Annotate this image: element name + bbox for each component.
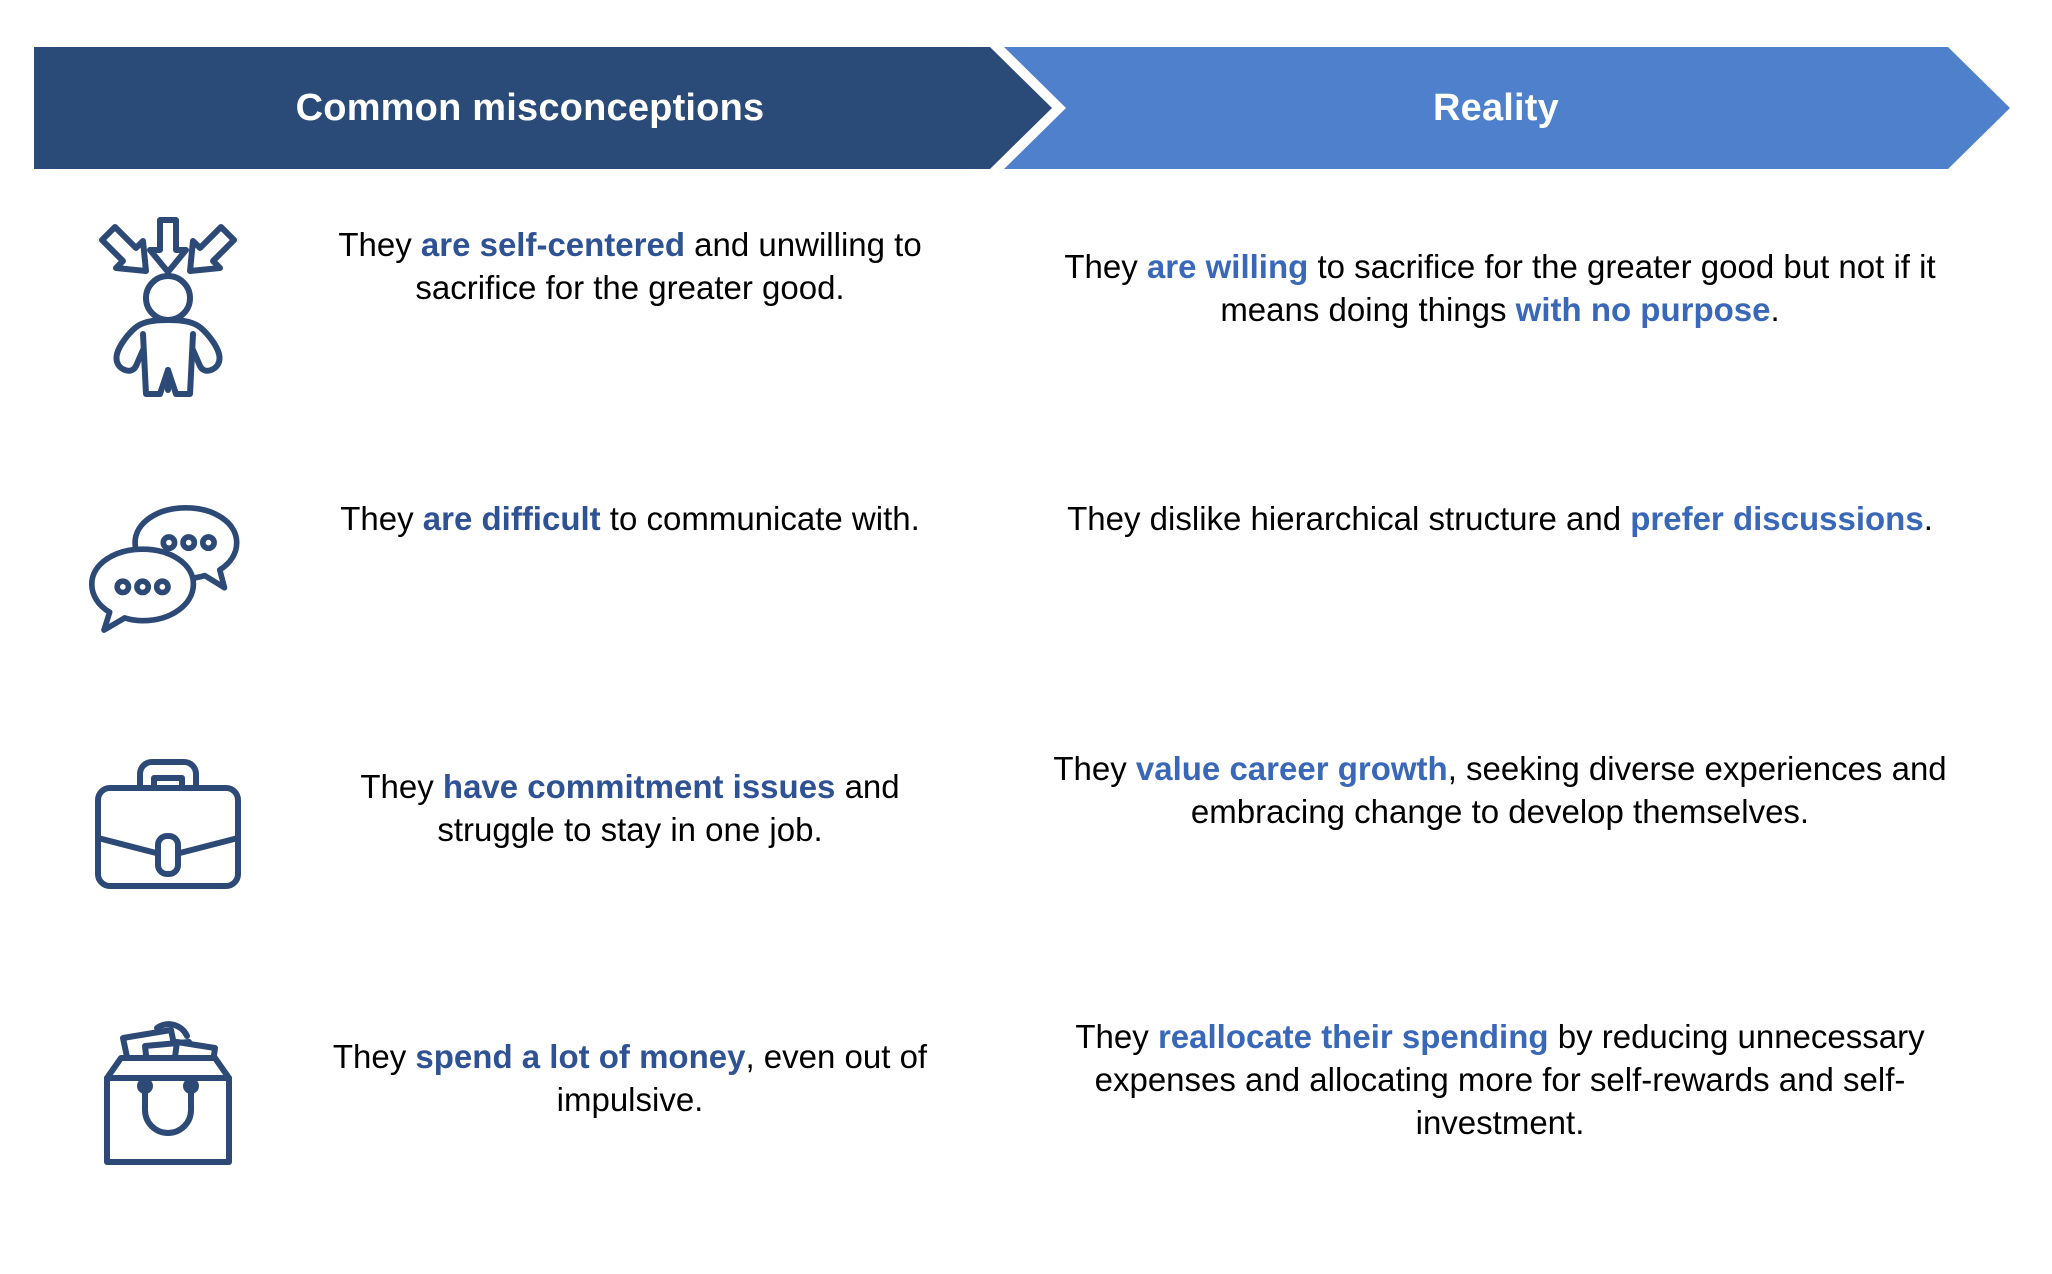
comparison-banner: Common misconceptions Reality <box>0 47 2052 169</box>
reality-rich-text: They value career growth, seeking divers… <box>1053 750 1946 830</box>
speech-bubbles-icon <box>88 498 248 683</box>
banner-chevron-reality: Reality <box>1004 47 2010 169</box>
body-text: They <box>360 768 443 805</box>
misconception-text: They have commitment issues and struggle… <box>310 766 950 852</box>
body-text: . <box>1771 291 1780 328</box>
body-text: They dislike hierarchical structure and <box>1067 500 1630 537</box>
misconception-rich-text: They spend a lot of money, even out of i… <box>333 1038 927 1118</box>
reality-text: They are willing to sacrifice for the gr… <box>1035 246 1965 332</box>
comparison-row: They spend a lot of money, even out of i… <box>0 1008 2052 1274</box>
person-with-inward-arrows-icon <box>88 214 248 399</box>
body-text: They <box>1064 248 1147 285</box>
emphasis-text: with no purpose <box>1516 291 1771 328</box>
body-text: They <box>333 1038 416 1075</box>
emphasis-text: spend a lot of money <box>415 1038 745 1075</box>
comparison-row: They are self-centered and unwilling to … <box>0 210 2052 476</box>
reality-rich-text: They reallocate their spending by reduci… <box>1075 1018 1924 1141</box>
misconception-text: They are difficult to communicate with. <box>310 498 950 541</box>
briefcase-icon <box>88 752 248 937</box>
reality-text: They value career growth, seeking divers… <box>1035 748 1965 834</box>
shopping-bag-icon <box>88 1016 248 1201</box>
emphasis-text: value career growth <box>1136 750 1448 787</box>
body-text: They <box>338 226 421 263</box>
emphasis-text: have commitment issues <box>443 768 836 805</box>
emphasis-text: are difficult <box>423 500 601 537</box>
emphasis-text: are self-centered <box>421 226 685 263</box>
banner-label-misconceptions: Common misconceptions <box>296 89 765 127</box>
reality-text: They reallocate their spending by reduci… <box>1035 1016 1965 1145</box>
emphasis-text: reallocate their spending <box>1158 1018 1549 1055</box>
reality-rich-text: They dislike hierarchical structure and … <box>1067 500 1933 537</box>
body-text: They <box>1075 1018 1158 1055</box>
body-text: They <box>340 500 423 537</box>
body-text: They <box>1053 750 1136 787</box>
misconception-rich-text: They are difficult to communicate with. <box>340 500 920 537</box>
banner-label-reality: Reality <box>1433 89 1559 127</box>
emphasis-text: are willing <box>1147 248 1308 285</box>
emphasis-text: prefer discussions <box>1630 500 1923 537</box>
comparison-row: They are difficult to communicate with. … <box>0 476 2052 742</box>
misconception-text: They are self-centered and unwilling to … <box>310 224 950 310</box>
reality-rich-text: They are willing to sacrifice for the gr… <box>1064 248 1935 328</box>
body-text: . <box>1924 500 1933 537</box>
comparison-row: They have commitment issues and struggle… <box>0 742 2052 1008</box>
body-text: to communicate with. <box>601 500 920 537</box>
misconception-text: They spend a lot of money, even out of i… <box>310 1036 950 1122</box>
reality-text: They dislike hierarchical structure and … <box>1035 498 1965 541</box>
misconception-rich-text: They are self-centered and unwilling to … <box>338 226 921 306</box>
misconception-rich-text: They have commitment issues and struggle… <box>360 768 899 848</box>
banner-chevron-misconceptions: Common misconceptions <box>34 47 1052 169</box>
